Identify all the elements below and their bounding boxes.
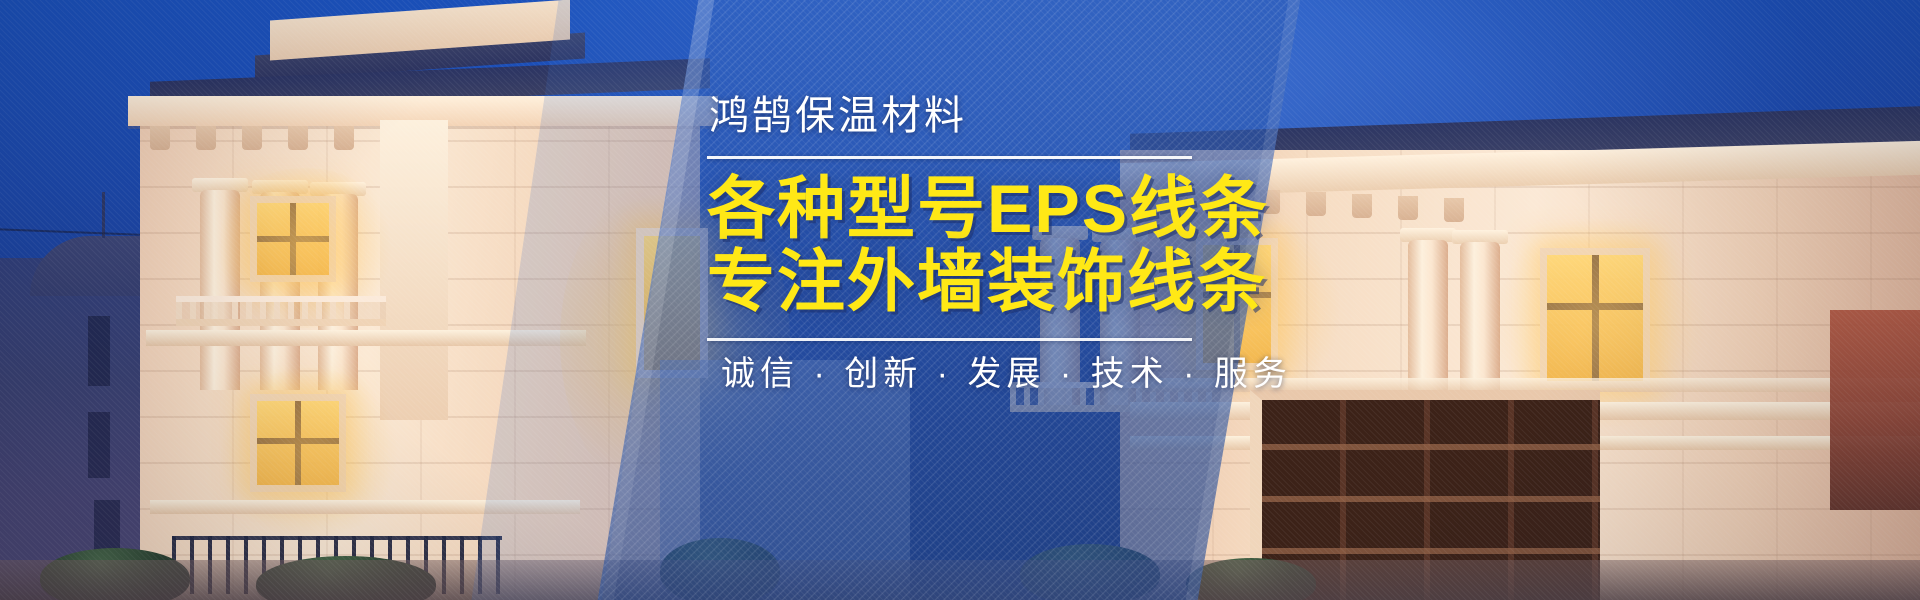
facade-band: [150, 500, 580, 514]
dentil-block: [1352, 194, 1372, 218]
villa-column: [1460, 242, 1500, 398]
divider-top: [707, 156, 1192, 159]
lit-window: [250, 394, 346, 492]
background-spire: [102, 192, 105, 238]
dentil-block: [1398, 196, 1418, 220]
dentil-block: [334, 126, 354, 150]
window-mullion: [1592, 255, 1599, 381]
villa-column: [200, 190, 240, 390]
villa-column: [1408, 240, 1448, 398]
balcony-balustrade: [176, 296, 386, 326]
window-mullion: [257, 236, 329, 242]
facade-band: [146, 330, 586, 346]
dentil-block: [242, 126, 262, 150]
dentil-block: [196, 126, 216, 150]
headline-line-1: 各种型号EPS线条: [707, 173, 1327, 246]
hero-banner: 鸿鹄保温材料 各种型号EPS线条 专注外墙装饰线条 诚信 · 创新 · 发展 ·…: [0, 0, 1920, 600]
red-structure-accent: [1830, 310, 1920, 510]
foreground-ground: [0, 560, 1920, 600]
lit-window: [250, 196, 336, 282]
villa-center-pier: [380, 120, 448, 420]
window-mullion: [1547, 303, 1643, 310]
headline: 各种型号EPS线条 专注外墙装饰线条: [707, 173, 1327, 320]
lit-window: [636, 228, 708, 378]
background-window: [94, 500, 120, 552]
dentil-block: [150, 126, 170, 150]
divider-bottom: [707, 338, 1192, 341]
tagline: 诚信 · 创新 · 发展 · 技术 · 服务: [721, 357, 1327, 391]
window-mullion: [257, 438, 339, 444]
lit-window: [1540, 248, 1650, 388]
brand-name: 鸿鹄保温材料: [709, 96, 1327, 136]
background-window: [88, 412, 110, 478]
headline-line-2: 专注外墙装饰线条: [707, 246, 1327, 319]
dentil-block: [1444, 198, 1464, 222]
background-window: [88, 316, 110, 386]
banner-copy: 鸿鹄保温材料 各种型号EPS线条 专注外墙装饰线条 诚信 · 创新 · 发展 ·…: [707, 96, 1327, 391]
dentil-block: [288, 126, 308, 150]
